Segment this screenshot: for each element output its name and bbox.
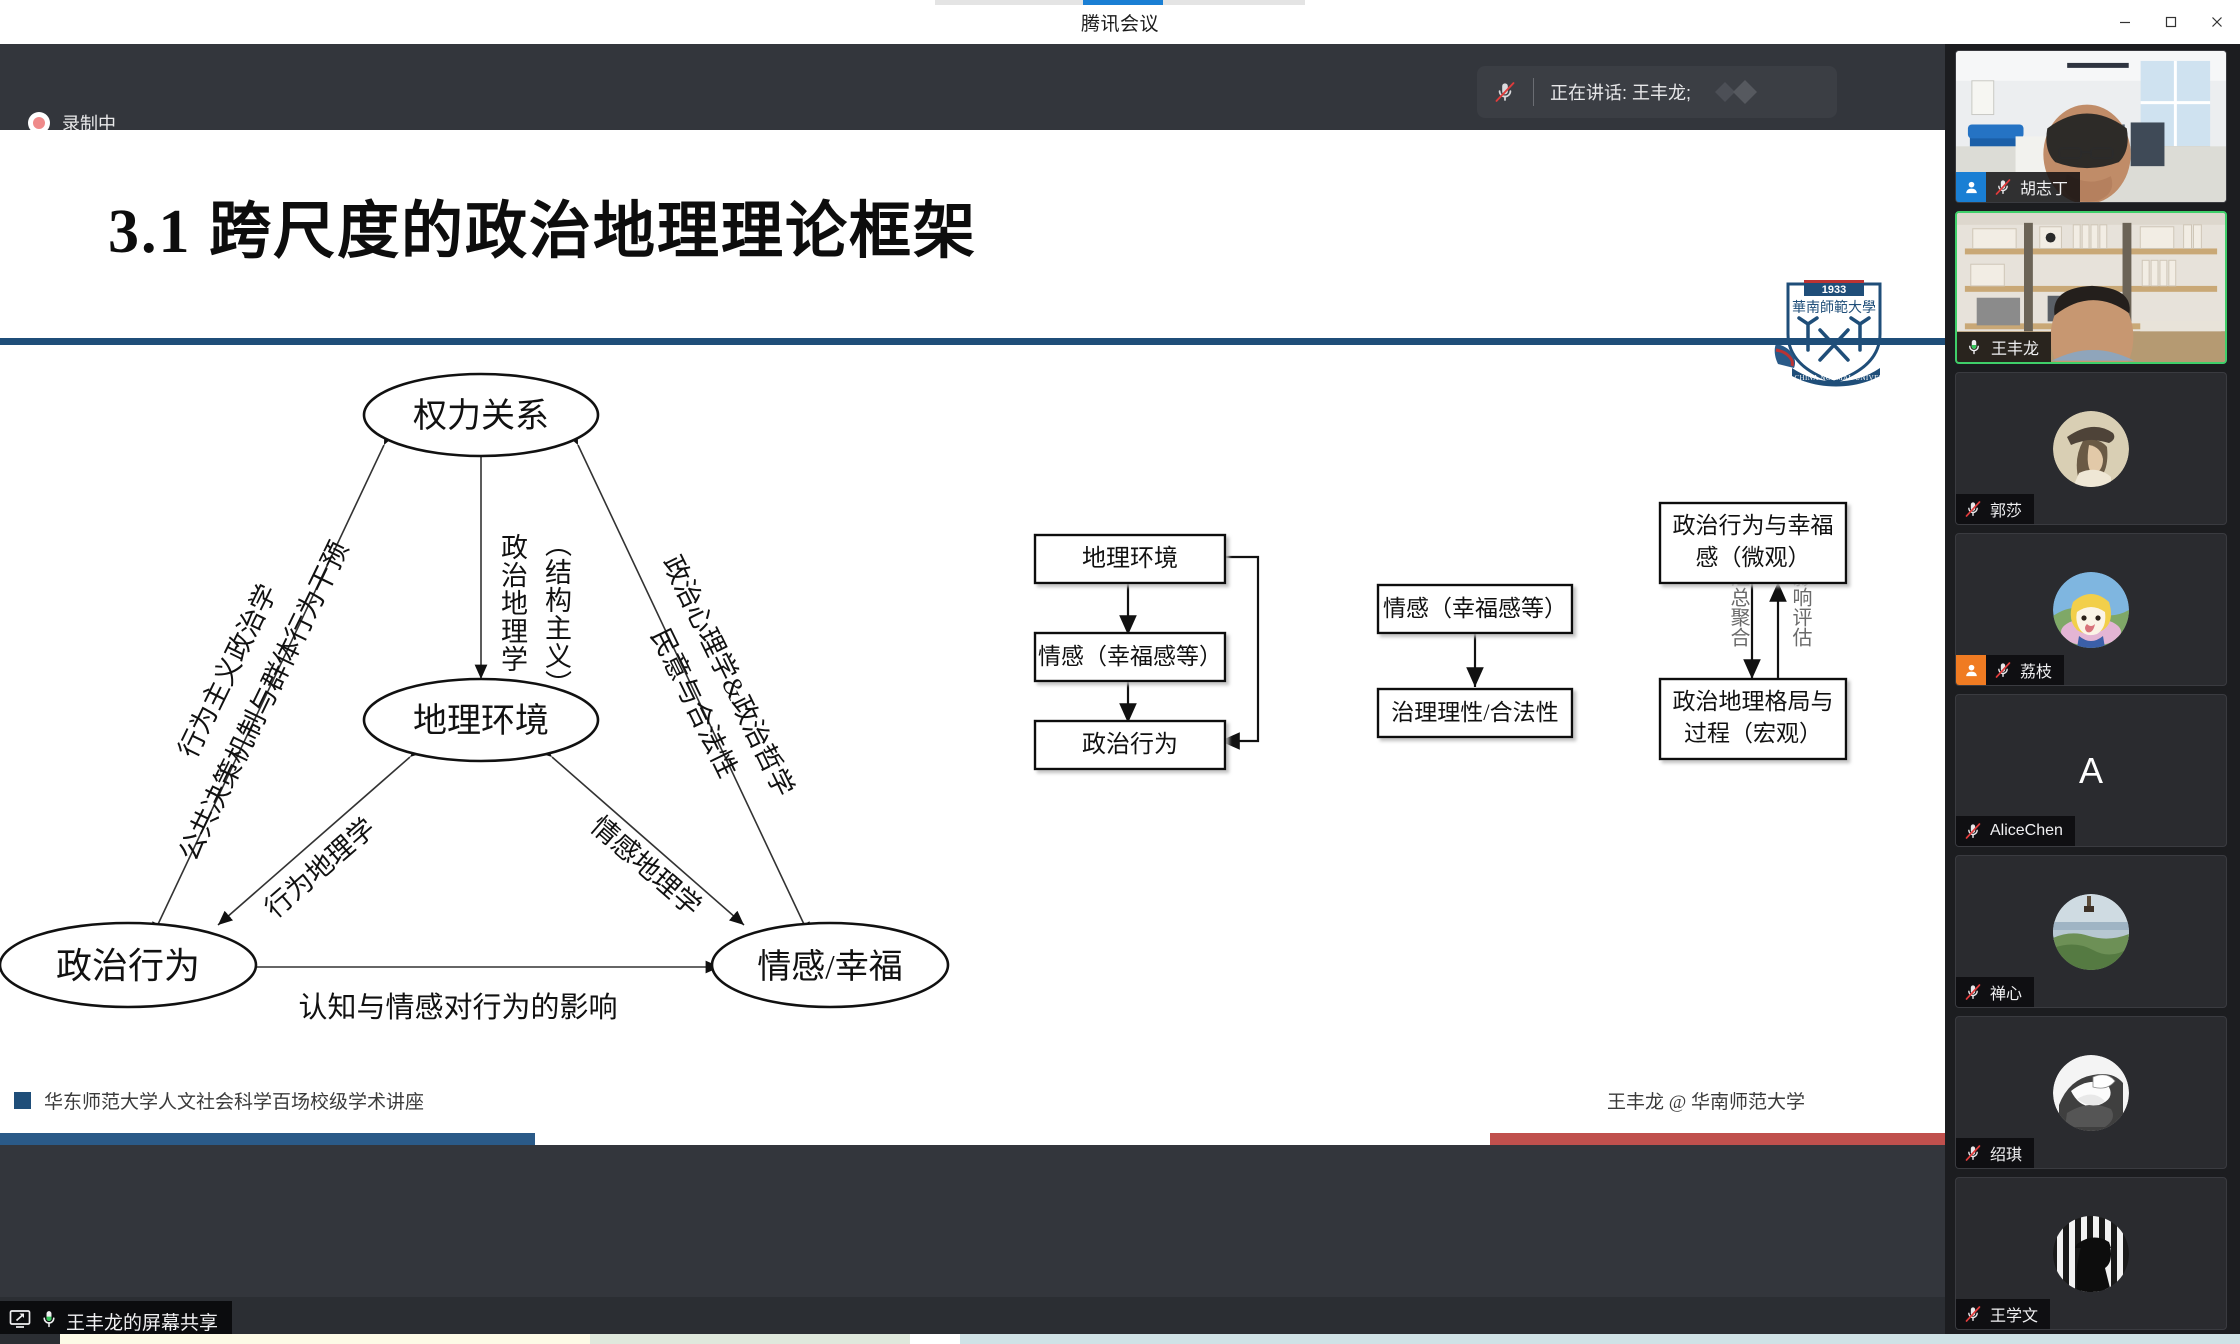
window-controls [2102, 0, 2240, 44]
mic-muted-icon [1956, 982, 1990, 1002]
mic-muted-icon [1956, 821, 1990, 841]
edge-geo-action [218, 757, 410, 925]
share-screen-icon [8, 1307, 32, 1336]
host-badge-icon [1956, 172, 1986, 202]
active-speaker-banner[interactable]: 正在讲话: 王丰龙; [1477, 66, 1837, 118]
active-speaker-label: 正在讲话: 王丰龙; [1550, 79, 1691, 105]
flow3-box2-line1: 政治地理格局与 [1673, 689, 1834, 714]
participant-name-bar: 王学文 [1956, 1299, 2050, 1329]
avatar-letter-wrap: A [2053, 733, 2129, 809]
page-title: 3.1 跨尺度的政治地理理论框架 [108, 180, 977, 270]
mic-muted-icon [1986, 177, 2020, 197]
node-action-label: 政治行为 [56, 946, 200, 986]
node-geo-label: 地理环境 [413, 702, 549, 740]
participant-tile[interactable]: 绍琪 [1955, 1016, 2227, 1169]
shared-slide: 3.1 跨尺度的政治地理理论框架 1933 華南師範大學 [0, 130, 1945, 1145]
cohost-badge-icon [1956, 655, 1986, 685]
logo-name-cn: 華南師範大學 [1792, 299, 1876, 316]
participant-name-bar: 荔枝 [1956, 655, 2064, 685]
participant-name: 王丰龙 [1991, 335, 2039, 359]
avatar-initial: A [2079, 750, 2103, 792]
edge-label-power-geo-1: 政治地理学 [497, 533, 528, 673]
footer-right-text: 王丰龙 @ 华南师范大学 [1607, 1087, 1805, 1114]
edge-geo-emotion [552, 757, 744, 925]
mic-active-icon [38, 1307, 60, 1336]
title-bar: 腾讯会议 [0, 0, 2240, 44]
edge-label-action-emotion: 认知与情感对行为的影响 [298, 991, 617, 1024]
flow1-box3-label: 政治行为 [1082, 731, 1178, 758]
participant-name: 禅心 [1990, 980, 2022, 1004]
flow-chain-3: 汇总聚合 影响评估 政治行为与幸福 感（微观） 政治地理格局与 过程（宏观） [1660, 503, 1846, 759]
meeting-window: 腾讯会议 录制中 正在讲话: 王丰龙; [0, 0, 2240, 1344]
footer-bar-blue [0, 1133, 535, 1145]
participant-name: 绍琪 [1990, 1141, 2022, 1165]
flow-chain-1: 地理环境 情感（幸福感等） 政治行为 [1035, 535, 1258, 769]
slide-footer: 华东师范大学人文社会科学百场校级学术讲座 王丰龙 @ 华南师范大学 [0, 1085, 1945, 1145]
edge-label-geo-action: 行为地理学 [259, 813, 381, 924]
participant-name-bar: AliceChen [1956, 816, 2075, 846]
flow2-box1-label: 情感（幸福感等） [1383, 596, 1567, 621]
participant-name: 荔枝 [2020, 658, 2052, 682]
participant-name-bar: 绍琪 [1956, 1138, 2034, 1168]
participant-name-bar: 禅心 [1956, 977, 2034, 1007]
mic-muted-icon [1956, 1304, 1990, 1324]
flow1-box2-label: 情感（幸福感等） [1038, 644, 1222, 669]
avatar [2053, 894, 2129, 970]
logo-year: 1933 [1822, 284, 1846, 296]
window-title: 腾讯会议 [0, 0, 2240, 44]
mic-muted-icon [1956, 499, 1990, 519]
footer-bar-red [1490, 1133, 1945, 1145]
participant-name: 郭莎 [1990, 497, 2022, 521]
theory-framework-diagram: 权力关系 地理环境 政治行为 情感/幸福 行为主义政治学 公共决策机制与群体行为… [0, 345, 1945, 1085]
minimize-icon[interactable] [2102, 0, 2148, 44]
participant-name-bar: 胡志丁 [1956, 172, 2080, 202]
mic-muted-icon [1986, 660, 2020, 680]
os-taskbar[interactable] [0, 1334, 2240, 1344]
participant-tile[interactable]: 王学文 [1955, 1177, 2227, 1330]
mic-muted-icon [1477, 79, 1533, 105]
node-emotion-label: 情感/幸福 [757, 948, 902, 986]
title-underline [0, 338, 1945, 345]
participant-name: AliceChen [1990, 822, 2063, 840]
chevron-expand-icon[interactable] [1705, 77, 1767, 107]
banner-divider [1533, 78, 1534, 106]
node-power-label: 权力关系 [413, 397, 549, 435]
slide-header: 3.1 跨尺度的政治地理理论框架 1933 華南師範大學 [0, 130, 1945, 345]
participant-tile[interactable]: 郭莎 [1955, 372, 2227, 525]
participant-tile[interactable]: 胡志丁 [1955, 50, 2227, 203]
avatar [2053, 411, 2129, 487]
participant-name: 胡志丁 [2020, 175, 2068, 199]
participant-name-bar: 王丰龙 [1957, 332, 2051, 362]
flow3-box2-line2: 过程（宏观） [1684, 721, 1822, 746]
footer-left-text: 华东师范大学人文社会科学百场校级学术讲座 [44, 1087, 424, 1114]
maximize-icon[interactable] [2148, 0, 2194, 44]
participant-name: 王学文 [1990, 1302, 2038, 1326]
avatar [2053, 572, 2129, 648]
avatar [2053, 1216, 2129, 1292]
flow1-box1-label: 地理环境 [1082, 545, 1178, 572]
footer-marker-icon [14, 1092, 31, 1109]
edge-label-power-geo-2: （结构主义） [541, 530, 572, 698]
flow2-box2-label: 治理理性/合法性 [1391, 700, 1558, 725]
mic-active-icon [1957, 337, 1991, 357]
slide-body: 权力关系 地理环境 政治行为 情感/幸福 行为主义政治学 公共决策机制与群体行为… [0, 345, 1945, 1085]
participant-tile[interactable]: 禅心 [1955, 855, 2227, 1008]
participant-tile[interactable]: A AliceChen [1955, 694, 2227, 847]
mic-muted-icon [1956, 1143, 1990, 1163]
participant-tile[interactable]: 王丰龙 [1955, 211, 2227, 364]
close-icon[interactable] [2194, 0, 2240, 44]
participant-tile[interactable]: 荔枝 [1955, 533, 2227, 686]
flow3-box1-line2: 感（微观） [1696, 545, 1811, 570]
flow3-box1-line1: 政治行为与幸福 [1673, 513, 1834, 538]
participant-name-bar: 郭莎 [1956, 494, 2034, 524]
participant-rail[interactable]: 胡志丁 [1945, 44, 2240, 1344]
screen-share-label: 王丰龙的屏幕共享 [66, 1308, 218, 1335]
flow-chain-2: 情感（幸福感等） 治理理性/合法性 [1378, 585, 1572, 737]
edge-label-geo-emotion: 情感地理学 [585, 811, 707, 922]
avatar [2053, 1055, 2129, 1131]
